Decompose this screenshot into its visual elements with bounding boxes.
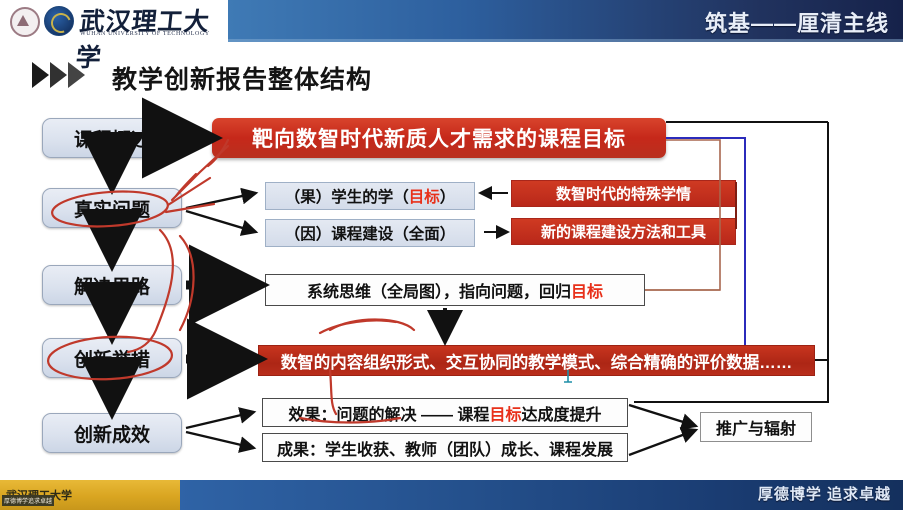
university-logo: 武汉理工大学 WUHAN UNIVERSITY OF TECHNOLOGY (6, 2, 226, 42)
support-label: 新的课程建设方法和工具 (541, 221, 706, 242)
footer-motto: 厚德博学 追求卓越 (758, 483, 891, 504)
system-thinking-box[interactable]: 系统思维（全局图），指向问题，回归目标 (265, 274, 645, 306)
node-label: 解决思路 (74, 272, 150, 299)
radiation-box[interactable]: 推广与辐射 (700, 412, 812, 442)
outcome-suffix: 达成度提升 (521, 401, 601, 425)
effect-box-student-learning[interactable]: （果）学生的学（目标） (265, 182, 475, 210)
node-label: 创新成效 (74, 420, 150, 447)
footer-blue-band: 厚德博学 追求卓越 (178, 480, 903, 510)
goal-banner-label: 靶向数智时代新质人才需求的课程目标 (252, 123, 626, 153)
node-label: 课程概述 (74, 125, 150, 152)
flow-node-real-problem[interactable]: 真实问题 (42, 188, 182, 228)
outcome-prefix: 效果：问题的解决 —— 课程 (289, 401, 490, 425)
effect-prefix: （果）学生的学（ (285, 185, 409, 207)
emblem-icon (10, 7, 40, 37)
header-blue-band: 筑基——厘清主线 (228, 0, 903, 42)
flow-node-solution-approach[interactable]: 解决思路 (42, 265, 182, 305)
radiation-label: 推广与辐射 (716, 415, 796, 439)
outcome-highlight: 目标 (489, 401, 521, 425)
support-box-methods-tools[interactable]: 新的课程建设方法和工具 (511, 218, 736, 245)
chevron-bullet-icon (32, 62, 85, 88)
footer-brand-plate: 武汉理工大学 厚德博学追求卓越 (0, 480, 180, 510)
footer-brand-badge: 厚德博学追求卓越 (2, 495, 54, 506)
flow-node-innovation-measures[interactable]: 创新举措 (42, 338, 182, 378)
outcome-label: 成果：学生收获、教师（团队）成长、课程发展 (277, 436, 613, 460)
cause-label: （因）课程建设（全面） (285, 222, 456, 244)
effect-suffix: ） (440, 185, 456, 207)
node-label: 真实问题 (74, 195, 150, 222)
system-thinking-prefix: 系统思维（全局图），指向问题，回归 (307, 278, 571, 302)
support-label: 数智时代的特殊学情 (556, 183, 691, 204)
measures-bar-label: 数智的内容组织形式、交互协同的教学模式、综合精确的评价数据…… (281, 349, 793, 373)
university-seal-icon (44, 6, 74, 36)
page-title: 教学创新报告整体结构 (112, 60, 372, 96)
node-label: 创新举措 (74, 345, 150, 372)
support-box-learning-context[interactable]: 数智时代的特殊学情 (511, 180, 736, 207)
arrow-outcomes-to-radiation (629, 405, 696, 455)
flow-node-course-overview[interactable]: 课程概述 (42, 118, 182, 158)
outcome-box-achievement[interactable]: 成果：学生收获、教师（团队）成长、课程发展 (262, 433, 628, 462)
arrow-results-to-outcomes (186, 412, 254, 448)
outcome-box-effect[interactable]: 效果：问题的解决 —— 课程目标达成度提升 (262, 398, 628, 427)
measures-bar[interactable]: 数智的内容组织形式、交互协同的教学模式、综合精确的评价数据…… (258, 345, 815, 376)
section-title: 筑基——厘清主线 (705, 6, 889, 38)
effect-highlight: 目标 (409, 185, 440, 207)
slide-header: 筑基——厘清主线 武汉理工大学 WUHAN UNIVERSITY OF TECH… (0, 0, 903, 44)
slide-footer: 厚德博学 追求卓越 武汉理工大学 厚德博学追求卓越 (0, 476, 903, 510)
system-thinking-highlight: 目标 (571, 278, 603, 302)
goal-banner[interactable]: 靶向数智时代新质人才需求的课程目标 (212, 118, 666, 158)
flow-node-innovation-results[interactable]: 创新成效 (42, 413, 182, 453)
university-name-en: WUHAN UNIVERSITY OF TECHNOLOGY (80, 31, 210, 37)
cause-box-course-construction[interactable]: （因）课程建设（全面） (265, 219, 475, 247)
arrow-problem-to-cause-effect (186, 193, 256, 232)
